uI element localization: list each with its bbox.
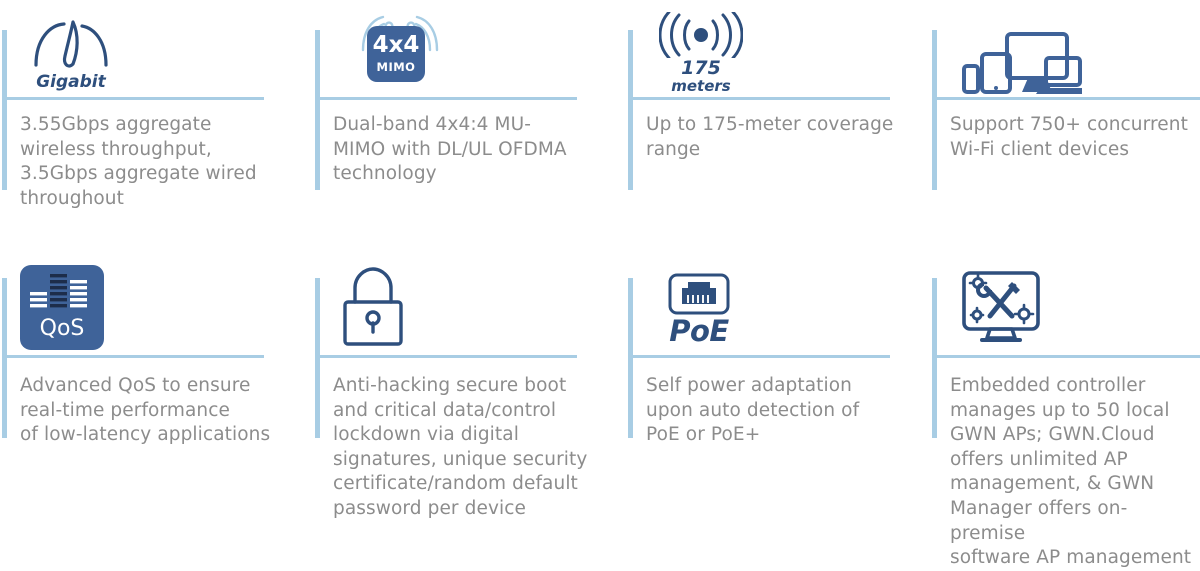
signal-broadcast-icon: 175 meters	[656, 2, 746, 94]
feature-text-mimo: Dual-band 4x4:4 MU- MIMO with DL/UL OFDM…	[333, 113, 567, 187]
mimo-badge-secondary-label: MIMO	[377, 60, 416, 74]
feature-text-qos: Advanced QoS to ensure real-time perform…	[20, 374, 270, 448]
coverage-icon-primary-label: 175	[681, 59, 721, 78]
multi-devices-icon	[960, 6, 1082, 98]
feature-cell-mimo: 4x4 MIMO Dual-band 4x4:4 MU- MIMO with D…	[315, 0, 615, 250]
feature-text-poe: Self power adaptation upon auto detectio…	[646, 374, 859, 448]
separator-vertical	[628, 278, 633, 438]
separator-vertical	[628, 30, 633, 190]
separator-horizontal	[628, 355, 890, 358]
feature-cell-security: Anti-hacking secure boot and critical da…	[315, 250, 615, 523]
feature-cell-poe: PoE Self power adaptation upon auto dete…	[628, 250, 928, 523]
coverage-icon-secondary-label: meters	[671, 78, 730, 95]
feature-text-security: Anti-hacking secure boot and critical da…	[333, 374, 587, 522]
separator-vertical	[932, 278, 937, 438]
separator-vertical	[315, 278, 320, 438]
feature-cell-coverage: 175 meters Up to 175-meter coverage rang…	[628, 0, 928, 250]
separator-horizontal	[2, 355, 264, 358]
separator-horizontal	[2, 97, 264, 100]
separator-vertical	[932, 30, 937, 190]
feature-text-coverage: Up to 175-meter coverage range	[646, 113, 893, 162]
feature-cell-gigabit: Gigabit 3.55Gbps aggregate wireless thro…	[2, 0, 302, 250]
separator-horizontal	[628, 97, 890, 100]
gigabit-icon-label: Gigabit	[36, 72, 106, 92]
separator-vertical	[315, 30, 320, 190]
separator-vertical	[2, 30, 7, 190]
padlock-icon	[337, 256, 409, 348]
separator-horizontal	[315, 355, 577, 358]
ethernet-poe-icon: PoE	[656, 254, 742, 346]
feature-cell-clients: Support 750+ concurrent Wi-Fi client dev…	[932, 0, 1200, 250]
feature-cell-controller: Embedded controller manages up to 50 loc…	[932, 250, 1200, 523]
separator-horizontal	[315, 97, 577, 100]
mimo-badge: 4x4 MIMO	[367, 26, 425, 82]
feature-text-clients: Support 750+ concurrent Wi-Fi client dev…	[950, 113, 1188, 162]
feature-cell-qos: QoS Advanced QoS to ensure real-time per…	[2, 250, 302, 523]
separator-vertical	[2, 278, 7, 438]
gigabit-arc-icon: Gigabit	[30, 0, 112, 92]
qos-badge-label: QoS	[40, 318, 85, 340]
separator-horizontal	[932, 355, 1200, 358]
mimo-badge-primary-label: 4x4	[373, 34, 420, 57]
monitor-tools-icon	[960, 256, 1042, 348]
feature-grid: Gigabit 3.55Gbps aggregate wireless thro…	[0, 0, 1200, 523]
feature-text-gigabit: 3.55Gbps aggregate wireless throughput, …	[20, 113, 257, 211]
feature-text-controller: Embedded controller manages up to 50 loc…	[950, 374, 1200, 571]
poe-icon-label: PoE	[669, 317, 729, 346]
qos-equalizer-badge-icon: QoS	[20, 258, 104, 350]
wifi-4x4-mimo-badge-icon: 4x4 MIMO	[343, 2, 453, 94]
